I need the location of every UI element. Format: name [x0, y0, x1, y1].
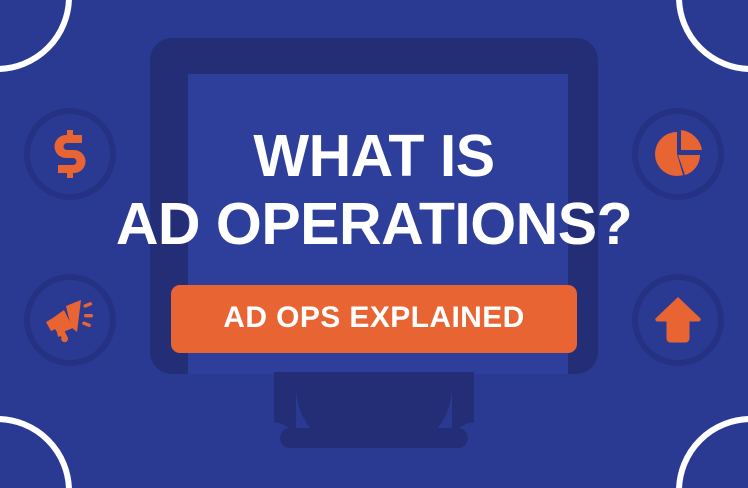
headline-line-1: WHAT IS	[253, 122, 494, 190]
promo-graphic: WHAT IS AD OPERATIONS? AD OPS EXPLAINED	[0, 0, 748, 488]
cta-button[interactable]: AD OPS EXPLAINED	[171, 285, 576, 353]
content-stack: WHAT IS AD OPERATIONS? AD OPS EXPLAINED	[0, 0, 748, 488]
headline-line-2: AD OPERATIONS?	[116, 190, 632, 258]
